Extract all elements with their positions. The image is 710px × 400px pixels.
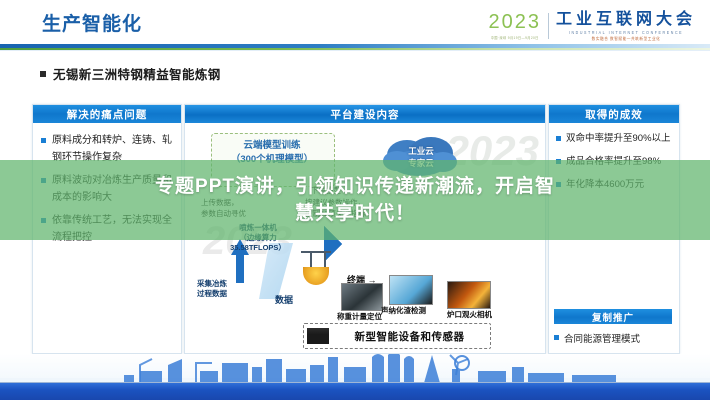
sonar-photo <box>389 275 433 305</box>
section-heading: 无锡新三洲特钢精益智能炼钢 <box>40 64 221 83</box>
conference-divider <box>548 13 549 39</box>
camera-label: 炉口观火相机 <box>447 309 492 320</box>
conference-name-block: 工业互联网大会 INDUSTRIAL INTERNET CONFERENCE 数… <box>556 12 696 42</box>
page-title: 生产智能化 <box>42 9 142 36</box>
panel-replicate-title: 复制推广 <box>554 309 672 324</box>
promo-overlay-text: 专题PPT演讲，引领知识传递新潮流，开启智 慧共享时代！ <box>155 173 555 227</box>
slide-header: 生产智能化 2023 中国·深圳 9月19日—9月20日 工业互联网大会 IND… <box>0 0 710 56</box>
section-heading-text: 无锡新三洲特钢精益智能炼钢 <box>53 68 221 82</box>
smart-device-box: 新型智能设备和传感器 <box>303 323 491 349</box>
panel-pain-points-title: 解决的痛点问题 <box>33 105 181 123</box>
slide-canvas: 生产智能化 2023 中国·深圳 9月19日—9月20日 工业互联网大会 IND… <box>0 0 710 400</box>
list-item: 双命中率提升至90%以上 <box>556 131 674 147</box>
conference-logo: 2023 中国·深圳 9月19日—9月20日 工业互联网大会 INDUSTRIA… <box>488 12 696 42</box>
bullet-square-icon <box>40 71 46 77</box>
conference-slogan: 数实融合 数智赋能—共筑新型工业化 <box>556 37 696 43</box>
conference-name-en: INDUSTRIAL INTERNET CONFERENCE <box>556 31 696 36</box>
footer-blue-band <box>0 383 710 400</box>
data-label: 数据 <box>275 293 293 306</box>
weighing-label: 称重计量定位 <box>337 311 382 322</box>
panel-platform-title: 平台建设内容 <box>185 105 545 123</box>
list-item: 合同能源管理模式 <box>554 331 672 345</box>
terminal-photo <box>341 283 383 311</box>
smart-device-box-label: 新型智能设备和传感器 <box>329 329 490 344</box>
conference-year-subtitle: 中国·深圳 9月19日—9月20日 <box>488 35 541 41</box>
panel-results-title: 取得的成效 <box>549 105 679 123</box>
conference-name-cn: 工业互联网大会 <box>556 12 696 28</box>
factory-silhouette-icon <box>307 328 329 344</box>
arrow-up-stem <box>236 253 244 283</box>
conference-year: 2023 <box>488 12 541 32</box>
furnace-camera-photo <box>447 281 491 309</box>
city-skyline-icon <box>0 354 710 383</box>
sonar-label: 声纳化渣检测 <box>381 305 426 316</box>
promo-overlay-banner: 专题PPT演讲，引领知识传递新潮流，开启智 慧共享时代！ <box>0 160 710 240</box>
header-rule-thin <box>0 50 710 51</box>
collect-note: 采集冶炼 过程数据 <box>197 279 227 299</box>
converter-furnace-icon <box>297 251 335 287</box>
panel-replicate: 复制推广 合同能源管理模式 <box>554 309 672 345</box>
promo-overlay-line2: 慧共享时代！ <box>155 200 555 227</box>
cloud-label-industrial: 工业云 <box>381 145 461 157</box>
cloud-training-line1: 云端模型训练 <box>211 137 333 151</box>
promo-overlay-line1: 专题PPT演讲，引领知识传递新潮流，开启智 <box>155 173 555 200</box>
conference-year-block: 2023 中国·深圳 9月19日—9月20日 <box>488 12 541 40</box>
slide-footer <box>0 354 710 400</box>
